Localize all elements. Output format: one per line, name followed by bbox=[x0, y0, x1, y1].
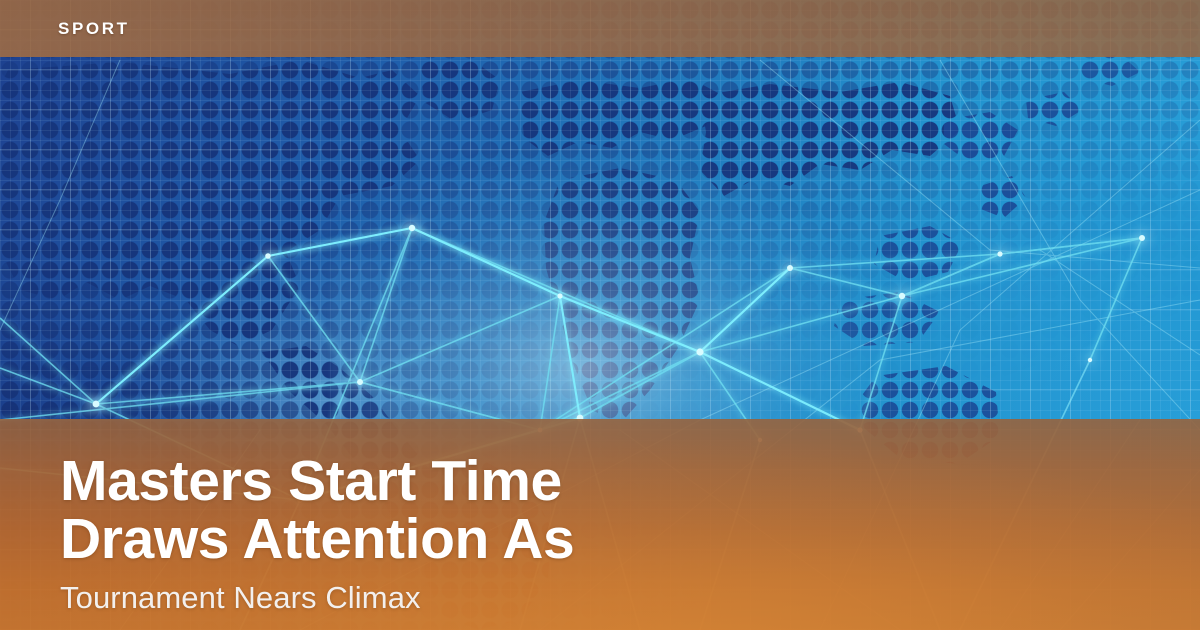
page-title: Masters Start Time Draws Attention As bbox=[60, 452, 1120, 568]
category-label[interactable]: SPORT bbox=[58, 20, 130, 37]
category-band: SPORT bbox=[0, 0, 1200, 57]
category-band-tint bbox=[0, 0, 1200, 57]
article-share-card: SPORT Masters Start Time Draws Attention… bbox=[0, 0, 1200, 630]
page-subtitle: Tournament Nears Climax bbox=[60, 580, 421, 616]
